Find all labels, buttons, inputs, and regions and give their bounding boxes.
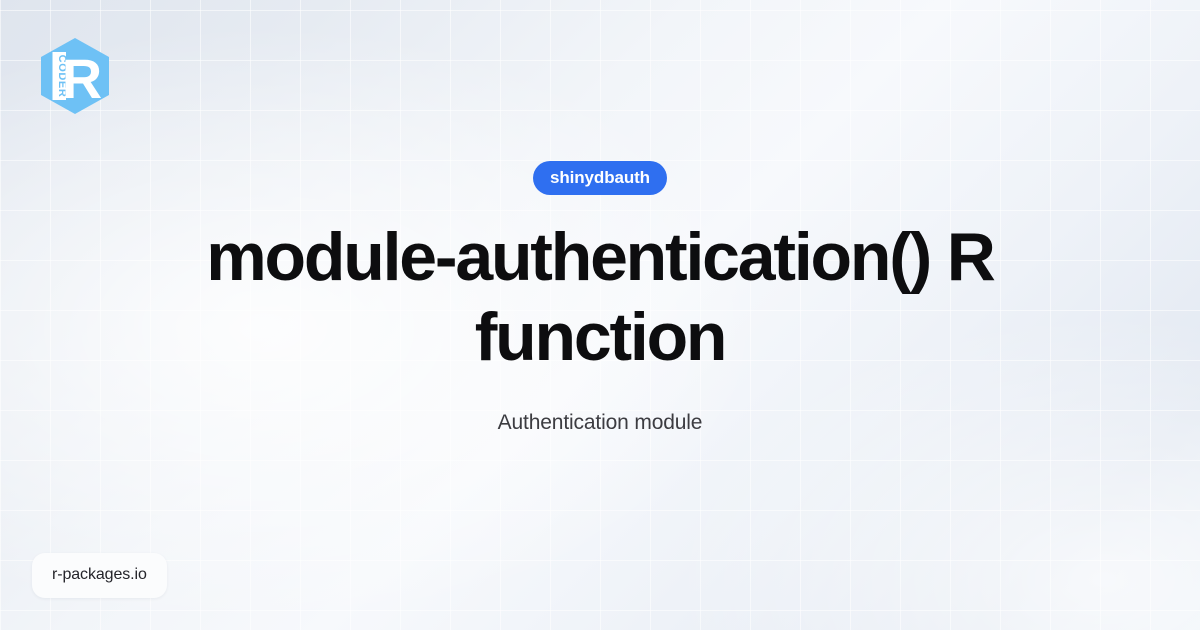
package-badge[interactable]: shinydbauth (533, 161, 667, 195)
page-subtitle: Authentication module (498, 411, 703, 435)
page-title: module-authentication() R function (100, 217, 1100, 377)
og-card: CODER R shinydbauth module-authenticatio… (0, 0, 1200, 630)
hero-content: shinydbauth module-authentication() R fu… (0, 0, 1200, 630)
site-domain-chip[interactable]: r-packages.io (32, 553, 167, 598)
